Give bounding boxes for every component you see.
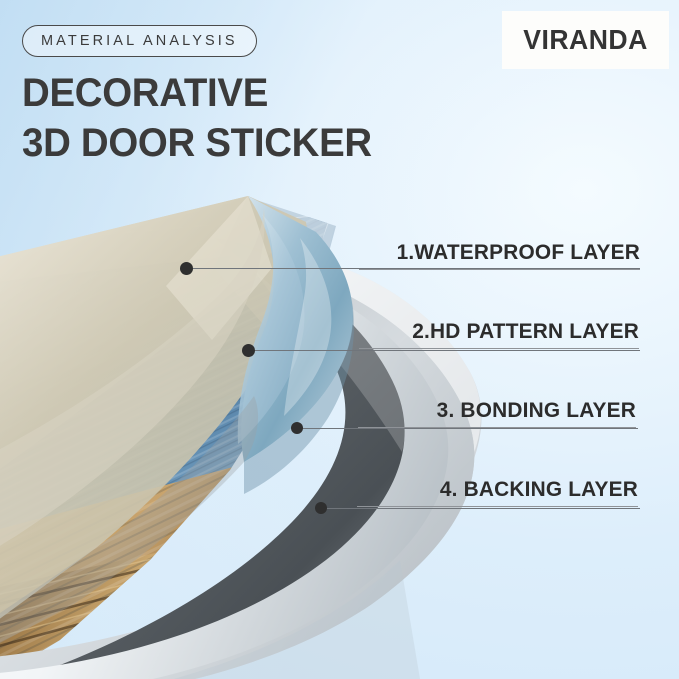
callout-rule-4 bbox=[357, 506, 638, 507]
callout-label-4: 4. BACKING LAYER bbox=[365, 477, 638, 502]
callout-bonding-layer: 3. BONDING LAYER bbox=[358, 398, 636, 428]
material-analysis-badge: MATERIAL ANALYSIS bbox=[22, 25, 257, 57]
page-title: DECORATIVE 3D DOOR STICKER bbox=[22, 68, 372, 168]
material-analysis-infographic: MATERIAL ANALYSIS DECORATIVE 3D DOOR STI… bbox=[0, 0, 679, 679]
leader-line-3 bbox=[300, 428, 638, 429]
callout-waterproof-layer: 1.WATERPROOF LAYER bbox=[359, 240, 640, 270]
callout-rule-1 bbox=[359, 269, 640, 270]
brand-name: VIRANDA bbox=[523, 24, 648, 56]
callout-backing-layer: 4. BACKING LAYER bbox=[357, 477, 638, 507]
brand-logo: VIRANDA bbox=[502, 11, 669, 69]
leader-line-1 bbox=[190, 268, 640, 269]
callout-label-3: 3. BONDING LAYER bbox=[366, 398, 636, 423]
leader-dot-1 bbox=[180, 262, 193, 275]
callout-label-1: 1.WATERPROOF LAYER bbox=[367, 240, 640, 265]
leader-line-2 bbox=[252, 350, 640, 351]
title-line-2: 3D DOOR STICKER bbox=[22, 118, 372, 168]
leader-dot-3 bbox=[291, 422, 303, 434]
callout-rule-2 bbox=[359, 348, 639, 349]
leader-dot-4 bbox=[315, 502, 327, 514]
callout-label-2: 2.HD PATTERN LAYER bbox=[367, 319, 639, 344]
leader-line-4 bbox=[324, 508, 640, 509]
callout-hd-pattern-layer: 2.HD PATTERN LAYER bbox=[359, 319, 639, 349]
title-line-1: DECORATIVE bbox=[22, 71, 268, 115]
badge-label: MATERIAL ANALYSIS bbox=[41, 33, 238, 49]
leader-dot-2 bbox=[242, 344, 255, 357]
